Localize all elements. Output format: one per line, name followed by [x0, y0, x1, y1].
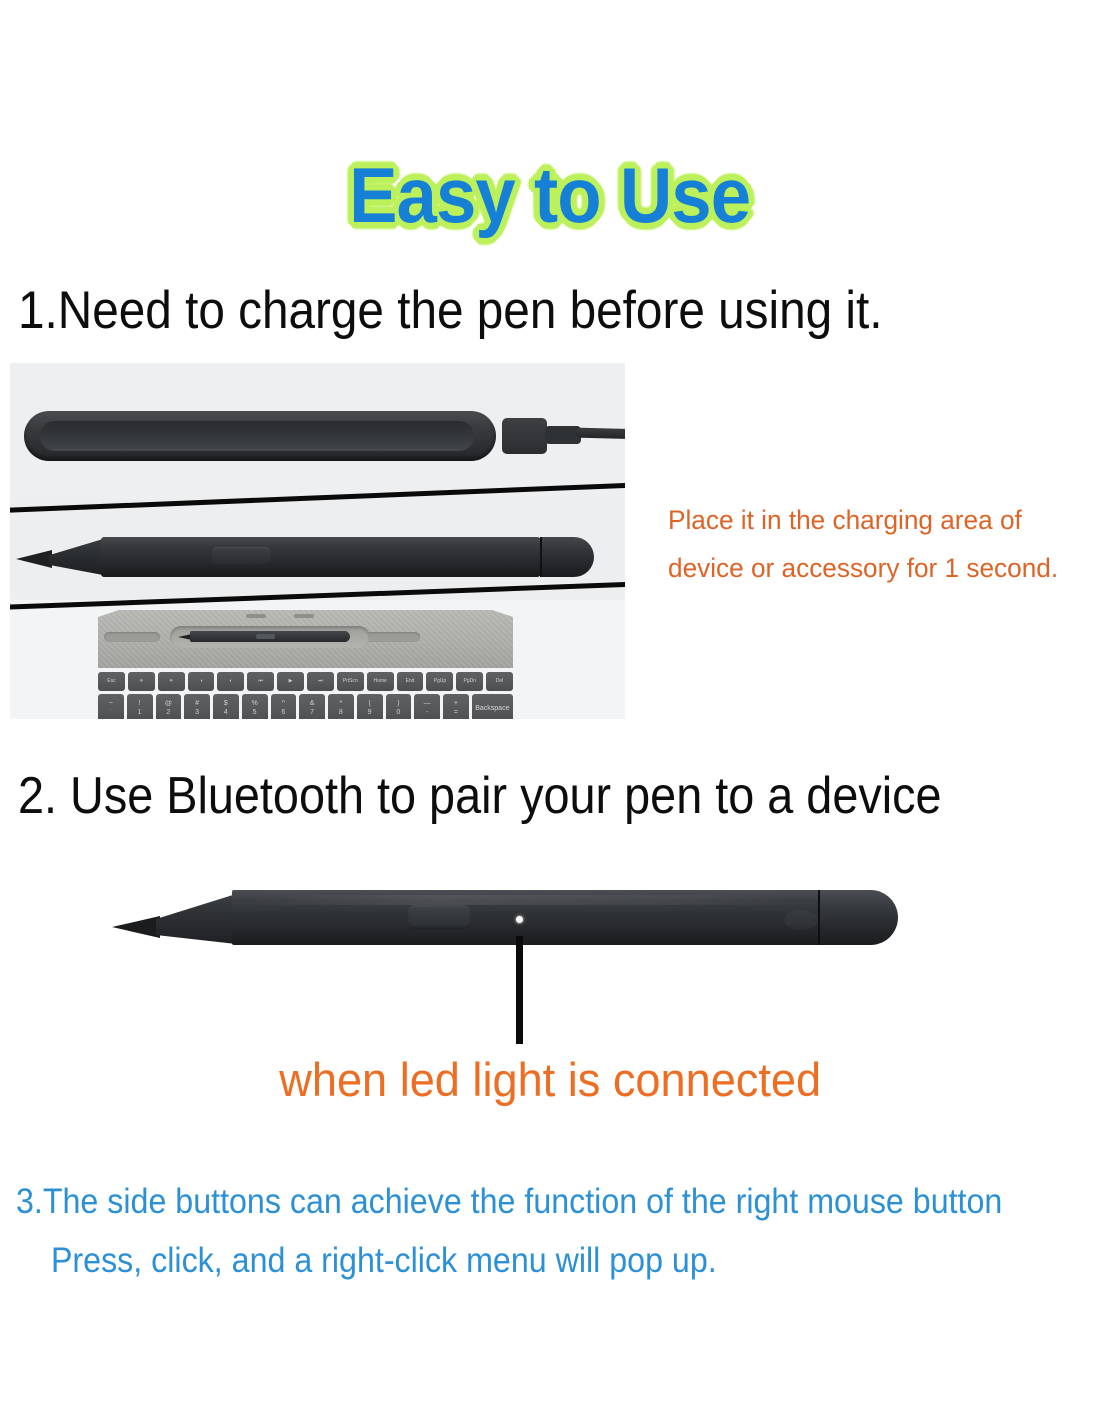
- pen-nib-icon: [112, 916, 160, 938]
- keyboard-key: !1: [127, 694, 153, 719]
- key-label: Home: [373, 679, 386, 684]
- key-label-top: #: [195, 700, 199, 707]
- keyboard-key: PgDn: [456, 672, 483, 691]
- key-label-top: —: [424, 700, 431, 707]
- keyboard-key: #3: [184, 694, 210, 719]
- keyboard-key: ⏮: [247, 672, 274, 691]
- pen-nib-icon: [16, 550, 52, 568]
- key-label: Backspace: [475, 705, 509, 712]
- key-label-bottom: `: [110, 709, 112, 716]
- key-label-top: !: [139, 700, 141, 707]
- page-title-container: Easy to Use: [0, 152, 1100, 238]
- key-label-bottom: 4: [224, 709, 228, 716]
- key-label: ◐: [229, 679, 232, 684]
- keyboard-function-row: Esc☀☀◑◐⏮▶⏭PrtScnHomeEndPgUpPgDnDel: [98, 672, 513, 691]
- key-label-top: ): [397, 700, 399, 707]
- key-label: ☀: [169, 679, 173, 684]
- keyboard-key: &7: [299, 694, 325, 719]
- keyboard-key-backspace: Backspace: [472, 694, 513, 719]
- keyboard-notch: [246, 614, 266, 618]
- surface-keyboard: Esc☀☀◑◐⏮▶⏭PrtScnHomeEndPgUpPgDnDel ~`!1@…: [98, 610, 513, 719]
- keyboard-key: (9: [357, 694, 383, 719]
- key-label-top: $: [224, 700, 228, 707]
- led-caption: when led light is connected: [0, 1052, 1100, 1108]
- keyboard-key: ~`: [98, 694, 124, 719]
- keyboard-key: $4: [213, 694, 239, 719]
- pen-charging-dock: [24, 411, 496, 461]
- keyboard-number-row: ~`!1@2#3$4%5^6&7*8(9)0—-+=Backspace: [98, 694, 513, 719]
- pen-pane: [10, 499, 625, 599]
- keyboard-key: Esc: [98, 672, 125, 691]
- keyboard-key: Del: [486, 672, 513, 691]
- keyboard-pane: Esc☀☀◑◐⏮▶⏭PrtScnHomeEndPgUpPgDnDel ~`!1@…: [10, 600, 625, 719]
- keyboard-key: ^6: [271, 694, 297, 719]
- keyboard-key: PgUp: [426, 672, 453, 691]
- caption-line-1: Place it in the charging area of: [668, 496, 1075, 544]
- charging-dock-pane: [10, 363, 625, 498]
- dock-groove: [40, 421, 474, 451]
- pen-taper: [49, 539, 103, 575]
- step-2-heading: 2. Use Bluetooth to pair your pen to a d…: [18, 767, 981, 825]
- key-label-bottom: 1: [138, 709, 142, 716]
- key-label: ▶: [289, 679, 293, 684]
- pen-eraser-cap: [820, 890, 898, 945]
- led-indicator-icon: [516, 916, 523, 923]
- keyboard-key: ☀: [128, 672, 155, 691]
- key-label-bottom: 2: [166, 709, 170, 716]
- pen-eraser-cap: [542, 537, 594, 577]
- key-label: ⏭: [318, 679, 323, 684]
- page-title: Easy to Use: [349, 152, 750, 238]
- keyboard-key: ◐: [217, 672, 244, 691]
- caption-line-2: device or accessory for 1 second.: [668, 544, 1075, 592]
- key-label: Esc: [107, 679, 115, 684]
- key-label-bottom: 6: [281, 709, 285, 716]
- stylus-pen-in-tray: [178, 630, 366, 643]
- key-label: End: [406, 679, 415, 684]
- key-label-top: *: [340, 700, 343, 707]
- step-3-line-1: 3.The side buttons can achieve the funct…: [16, 1172, 1000, 1231]
- key-label-top: %: [252, 700, 258, 707]
- pen-taper: [156, 894, 236, 944]
- stylus-pen-small: [16, 523, 616, 585]
- step-3-text: 3.The side buttons can achieve the funct…: [16, 1172, 1086, 1290]
- key-label: PrtScn: [343, 679, 358, 684]
- led-caption-text: when led light is connected: [279, 1052, 821, 1108]
- keyboard-key: *8: [328, 694, 354, 719]
- key-label-bottom: 8: [339, 709, 343, 716]
- usbc-cable: [576, 428, 625, 441]
- keyboard-key: +=: [443, 694, 469, 719]
- keyboard-notch: [294, 614, 314, 618]
- keyboard-key: @2: [156, 694, 182, 719]
- keyboard-side-groove: [364, 632, 420, 642]
- stylus-pen-large: [112, 872, 902, 952]
- step-1-heading: 1.Need to charge the pen before using it…: [18, 282, 981, 340]
- key-label-top: ~: [109, 700, 113, 707]
- charging-photo-composite: Esc☀☀◑◐⏮▶⏭PrtScnHomeEndPgUpPgDnDel ~`!1@…: [10, 363, 625, 719]
- pen-cap-shadow: [784, 910, 818, 930]
- pen-side-button: [212, 547, 270, 564]
- key-label-bottom: 7: [310, 709, 314, 716]
- key-label-top: &: [310, 700, 315, 707]
- keyboard-key: ◑: [188, 672, 215, 691]
- key-label-bottom: =: [454, 709, 458, 716]
- key-label-top: +: [454, 700, 458, 707]
- key-label-top: @: [165, 700, 172, 707]
- keyboard-key: ▶: [277, 672, 304, 691]
- usbc-plug-icon: [502, 418, 547, 454]
- step-3-line-2: Press, click, and a right-click menu wil…: [16, 1231, 1000, 1290]
- keyboard-key: ⏭: [307, 672, 334, 691]
- keyboard-key: Home: [367, 672, 394, 691]
- key-label-top: (: [368, 700, 370, 707]
- keyboard-key: %5: [242, 694, 268, 719]
- key-label-bottom: 3: [195, 709, 199, 716]
- keyboard-key: )0: [386, 694, 412, 719]
- keyboard-key: ☀: [158, 672, 185, 691]
- key-label-bottom: 9: [368, 709, 372, 716]
- keyboard-side-groove: [104, 632, 160, 642]
- pen-highlight: [242, 895, 802, 905]
- key-label-top: ^: [282, 700, 285, 707]
- keyboard-key: PrtScn: [337, 672, 364, 691]
- keyboard-key: End: [397, 672, 424, 691]
- key-label: PgDn: [463, 679, 476, 684]
- keyboard-key: —-: [414, 694, 440, 719]
- pen-side-button: [408, 905, 470, 929]
- charging-instruction-caption: Place it in the charging area of device …: [668, 496, 1075, 592]
- key-label: PgUp: [434, 679, 447, 684]
- pen-side-button: [256, 634, 275, 639]
- key-label-bottom: -: [426, 709, 428, 716]
- key-label: Del: [496, 679, 504, 684]
- pen-body: [101, 537, 541, 577]
- key-label-bottom: 5: [253, 709, 257, 716]
- key-label: ◑: [199, 679, 202, 684]
- led-pointer-line: [516, 936, 523, 1044]
- key-label: ⏮: [258, 679, 263, 684]
- key-label: ☀: [139, 679, 143, 684]
- key-label-bottom: 0: [396, 709, 400, 716]
